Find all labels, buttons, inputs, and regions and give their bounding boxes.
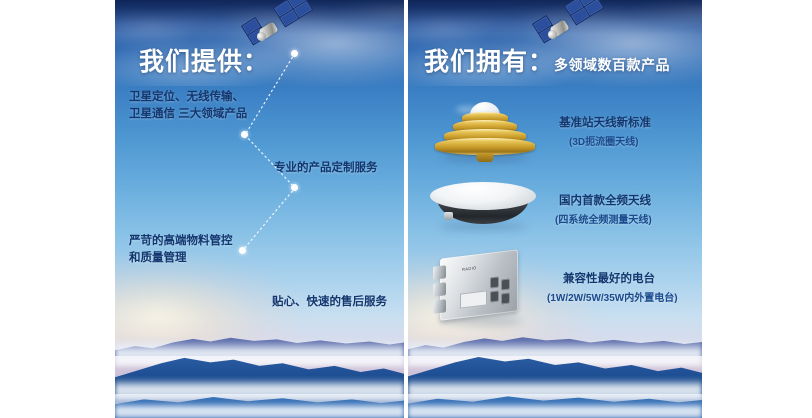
right-panel-heading: 我们拥有：多领域数百款产品	[424, 42, 670, 78]
product-1-subtitle: (3D扼流圈天线)	[569, 133, 638, 148]
slide-canvas: 我们提供： 卫星定位、无线传输、 卫星通信 三大领域产品 专业的产品定制服务 严…	[0, 0, 812, 418]
product-row-1: 基准站天线新标准 (3D扼流圈天线)	[408, 92, 702, 170]
choke-ring-antenna-image	[430, 96, 540, 162]
radio-transmitter-box-image: RADIO	[432, 250, 528, 320]
product-1-title: 基准站天线新标准	[559, 114, 651, 130]
zigzag-node-4	[239, 247, 246, 254]
product-2-title: 国内首款全频天线	[559, 192, 651, 208]
right-panel: 我们拥有：多领域数百款产品 基准站天线新标准 (3D扼流圈天线)	[408, 0, 702, 418]
left-item-3-line1: 严苛的高端物料管控	[129, 233, 233, 250]
left-item-4-line1: 贴心、快速的售后服务	[272, 294, 387, 311]
product-row-2: 国内首款全频天线 (四系统全频测量天线)	[408, 178, 702, 242]
left-item-1-line1: 卫星定位、无线传输、	[129, 89, 244, 106]
product-row-3: RADIO 兼容性最好的电台 (1W/2W/5W/35W内外置电台)	[408, 248, 702, 330]
product-3-subtitle: (1W/2W/5W/35W内外置电台)	[547, 289, 678, 304]
product-3-title: 兼容性最好的电台	[563, 270, 655, 286]
zigzag-node-2	[241, 131, 248, 138]
left-item-3-line2: 和质量管理	[129, 250, 187, 267]
full-band-disc-antenna-image	[430, 182, 536, 226]
left-item-1-line2: 卫星通信 三大领域产品	[129, 106, 247, 123]
zigzag-node-1	[291, 50, 298, 57]
left-panel: 我们提供： 卫星定位、无线传输、 卫星通信 三大领域产品 专业的产品定制服务 严…	[115, 0, 404, 418]
product-2-subtitle: (四系统全频测量天线)	[555, 211, 652, 226]
mountain-mist-scenery	[115, 306, 404, 418]
right-panel-heading-text: 我们拥有：	[424, 48, 554, 76]
left-item-2-line1: 专业的产品定制服务	[274, 160, 378, 177]
left-panel-heading: 我们提供：	[139, 42, 269, 78]
right-panel-heading-subtext: 多领域数百款产品	[554, 57, 670, 73]
zigzag-node-3	[291, 184, 298, 191]
